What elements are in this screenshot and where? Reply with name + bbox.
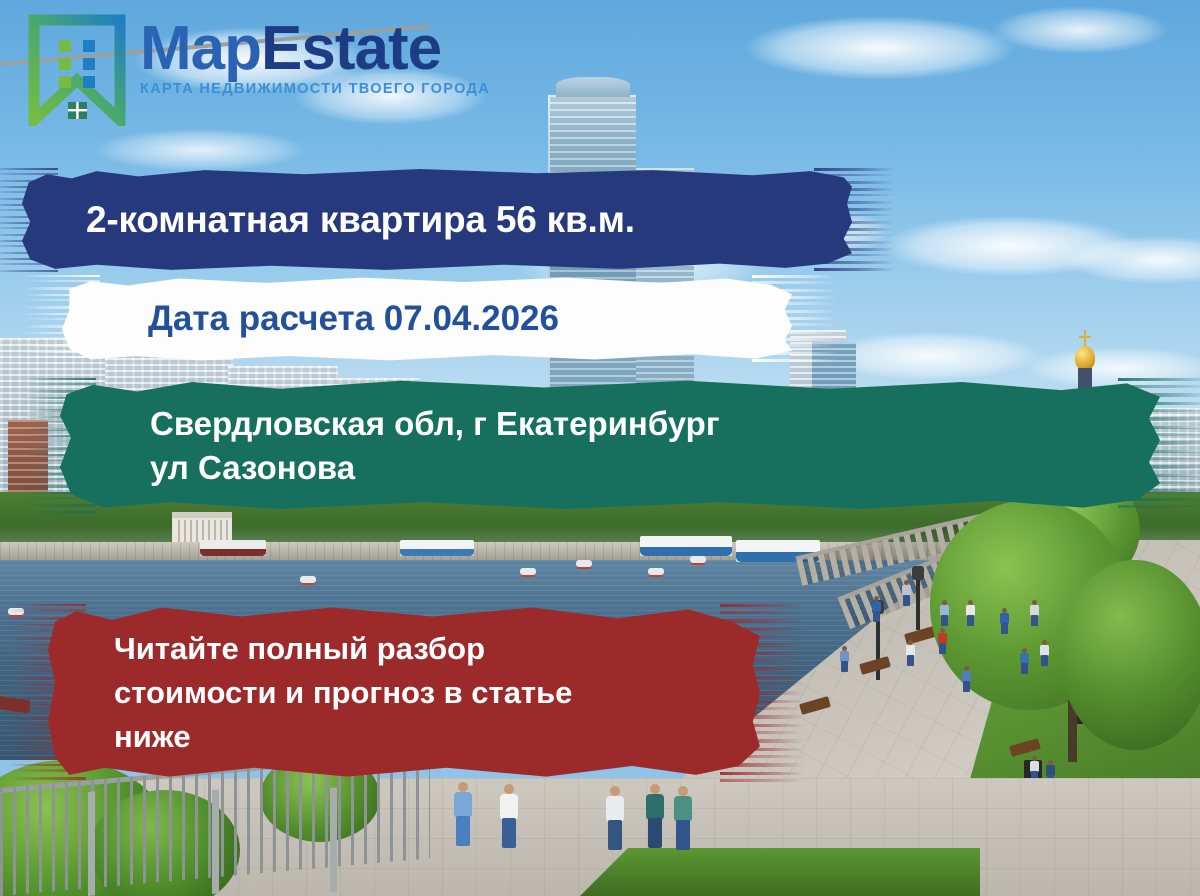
pedestrian xyxy=(1040,640,1049,666)
pedestrian-featured xyxy=(644,784,666,850)
roadside-tree xyxy=(1060,560,1200,750)
cta-line-2: стоимости и прогноз в статье xyxy=(114,675,572,710)
logo-wordmark: MapEstate xyxy=(140,20,490,79)
river-boat xyxy=(400,540,474,556)
small-boat xyxy=(648,568,664,575)
fence-post xyxy=(330,787,337,892)
pedestrian xyxy=(906,640,915,666)
property-address-text: Свердловская обл, г Екатеринбург ул Сазо… xyxy=(150,402,720,489)
fence-post xyxy=(212,789,219,894)
pedestrian xyxy=(840,646,849,672)
pedestrian xyxy=(1020,648,1029,674)
pedestrian-featured xyxy=(604,786,626,852)
calculation-date-text: Дата расчета 07.04.2026 xyxy=(148,299,559,339)
pedestrian xyxy=(966,600,975,626)
logo-text-block: MapEstate КАРТА НЕДВИЖИМОСТИ ТВОЕГО ГОРО… xyxy=(140,14,490,97)
calculation-date-banner: Дата расчета 07.04.2026 xyxy=(62,275,792,363)
grass-strip-bottom xyxy=(580,848,980,896)
property-address-banner: Свердловская обл, г Екатеринбург ул Сазо… xyxy=(60,378,1160,513)
pedestrian xyxy=(940,600,949,626)
address-line-1: Свердловская обл, г Екатеринбург xyxy=(150,405,720,442)
small-boat xyxy=(520,568,536,575)
property-title-banner: 2-комнатная квартира 56 кв.м. xyxy=(22,168,852,272)
logo-word-map: Map xyxy=(140,14,261,83)
call-to-action-banner[interactable]: Читайте полный разбор стоимости и прогно… xyxy=(48,604,760,782)
pedestrian-featured xyxy=(672,786,694,852)
small-boat xyxy=(300,576,316,583)
pedestrian xyxy=(872,596,881,622)
pedestrian-featured xyxy=(452,782,474,848)
property-title-text: 2-комнатная квартира 56 кв.м. xyxy=(86,199,635,241)
call-to-action-text: Читайте полный разбор стоимости и прогно… xyxy=(114,627,572,759)
pedestrian xyxy=(902,580,911,606)
river-boat xyxy=(200,540,266,556)
brand-logo[interactable]: MapEstate КАРТА НЕДВИЖИМОСТИ ТВОЕГО ГОРО… xyxy=(28,14,490,126)
pedestrian xyxy=(1030,600,1039,626)
lamp-post xyxy=(916,576,920,630)
bookmark-building-icon xyxy=(28,14,126,126)
cta-line-1: Читайте полный разбор xyxy=(114,631,485,666)
fence-post xyxy=(88,791,95,896)
pedestrian-featured xyxy=(498,784,520,850)
cross-icon xyxy=(1079,336,1091,338)
pedestrian xyxy=(1000,608,1009,634)
pedestrian xyxy=(938,628,947,654)
address-line-2: ул Сазонова xyxy=(150,449,355,486)
logo-word-estate: Estate xyxy=(261,14,441,83)
cta-line-3: ниже xyxy=(114,719,191,754)
golden-dome xyxy=(1075,346,1095,370)
logo-tagline: КАРТА НЕДВИЖИМОСТИ ТВОЕГО ГОРОДА xyxy=(140,81,490,97)
small-boat xyxy=(576,560,592,567)
river-boat xyxy=(640,536,732,556)
pedestrian xyxy=(962,666,971,692)
small-boat xyxy=(690,556,706,563)
property-promo-poster: MapEstate КАРТА НЕДВИЖИМОСТИ ТВОЕГО ГОРО… xyxy=(0,0,1200,896)
